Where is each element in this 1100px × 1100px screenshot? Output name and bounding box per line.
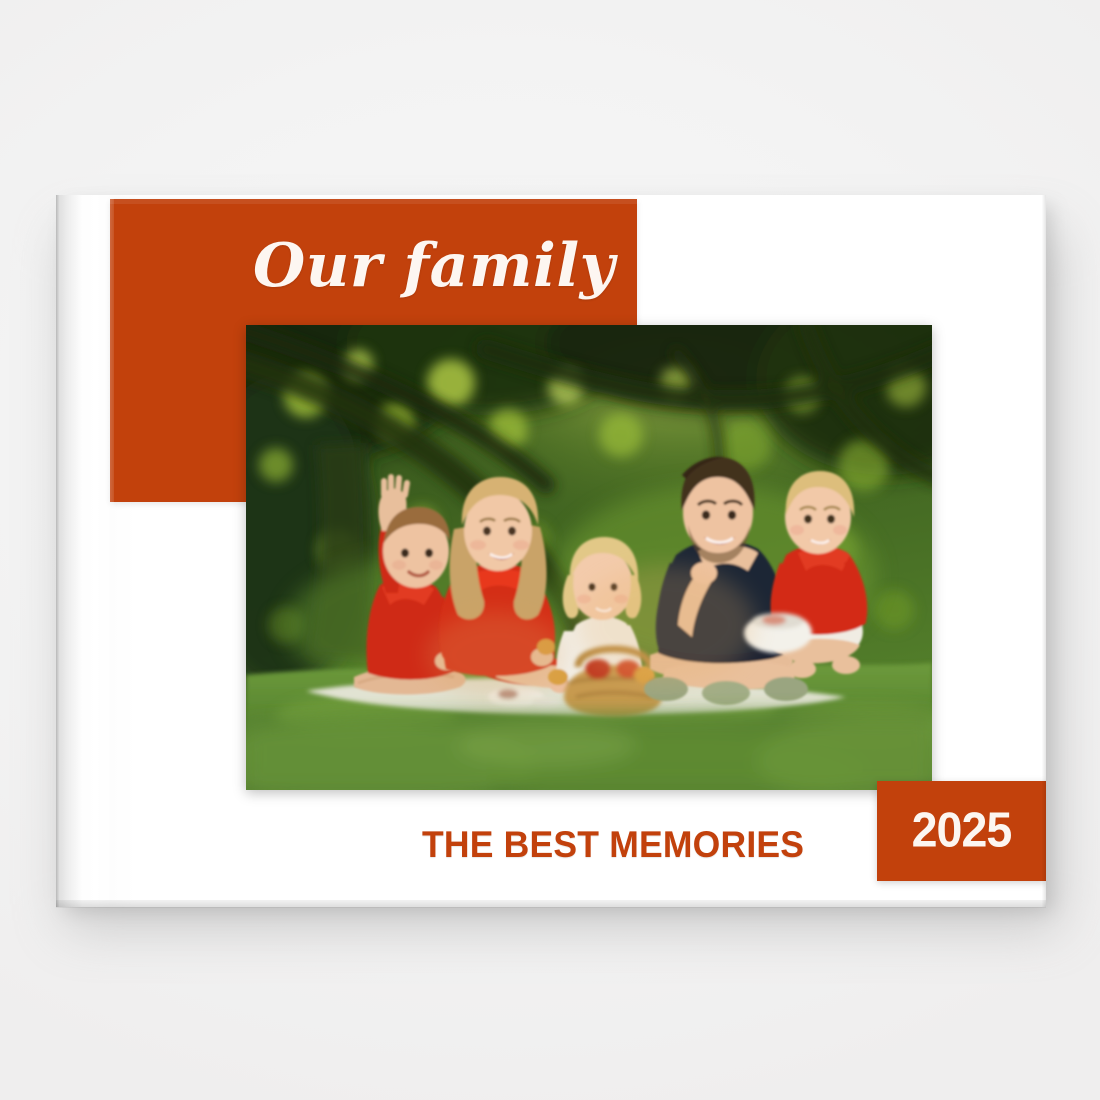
book-page-block <box>56 900 1046 907</box>
book-front-cover: Our family <box>56 195 1046 907</box>
family-picnic-illustration <box>246 325 932 790</box>
year-badge: 2025 <box>877 781 1046 881</box>
photo-book-mockup: Our family <box>56 195 1046 907</box>
cover-footer: THE BEST MEMORIES 2025 <box>56 790 1046 907</box>
year-badge-label: 2025 <box>881 807 1042 856</box>
book-left-edge <box>56 195 59 907</box>
cover-title: Our family <box>253 235 615 298</box>
cover-photo <box>246 325 932 790</box>
cover-tagline: THE BEST MEMORIES <box>422 826 804 863</box>
book-right-edge <box>1042 195 1046 907</box>
page-canvas: Our family <box>0 0 1100 1100</box>
